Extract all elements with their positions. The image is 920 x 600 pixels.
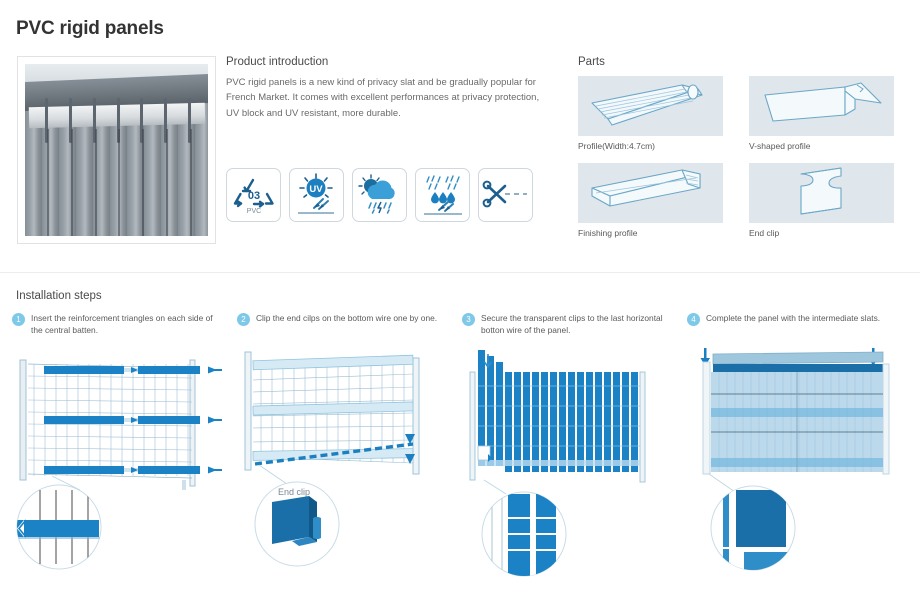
step-header: 1 Insert the reinforcement triangles on …: [12, 312, 237, 336]
part-label: V-shaped profile: [749, 141, 894, 151]
installation-step-2: 2 Clip the end cilps on the bottom wire …: [237, 312, 462, 587]
end-clip-detail-label: End clip: [278, 487, 310, 497]
water-repellent-icon: [415, 168, 470, 222]
photo-wire: [118, 129, 120, 236]
step-header: 3 Secure the transparent clips to the la…: [462, 312, 687, 336]
product-photo: [25, 64, 208, 236]
step-header: 4 Complete the panel with the intermedia…: [687, 312, 912, 326]
cuttable-scissors-icon: [478, 168, 533, 222]
step-text: Secure the transparent clips to the last…: [481, 312, 671, 336]
step-badge: 3: [462, 313, 475, 326]
parts-heading: Parts: [578, 56, 908, 68]
part-item-v-shaped: V-shaped profile: [749, 76, 894, 151]
step-header: 2 Clip the end cilps on the bottom wire …: [237, 312, 462, 326]
feature-icon-row: 03 PVC UV: [226, 168, 533, 222]
part-item-finishing: Finishing profile: [578, 163, 723, 238]
part-image-end-clip: [749, 163, 894, 223]
product-photo-frame: [17, 56, 216, 244]
intro-body: PVC rigid panels is a new kind of privac…: [226, 75, 546, 121]
step-badge: 1: [12, 313, 25, 326]
uv-block-icon: UV: [289, 168, 344, 222]
parts-section: Parts: [578, 56, 908, 238]
step-text: Clip the end cilps on the bottom wire on…: [256, 312, 437, 326]
part-image-finishing: [578, 163, 723, 223]
pvc-label-text: PVC: [246, 208, 260, 215]
step-illustration-3: [462, 342, 677, 587]
part-label: Finishing profile: [578, 228, 723, 238]
photo-wire: [166, 129, 168, 236]
photo-wire: [47, 129, 49, 236]
photo-wire: [95, 129, 97, 236]
step-badge: 2: [237, 313, 250, 326]
part-item-profile: Profile(Width:4.7cm): [578, 76, 723, 151]
product-spec-sheet: PVC rigid panels Product introduction P: [0, 0, 920, 600]
part-image-v-shaped: [749, 76, 894, 136]
step-illustration-2: End clip: [237, 332, 452, 577]
photo-wire: [142, 129, 144, 236]
installation-steps: 1 Insert the reinforcement triangles on …: [12, 312, 912, 587]
installation-step-1: 1 Insert the reinforcement triangles on …: [12, 312, 237, 587]
photo-wire: [71, 129, 73, 236]
part-image-profile: [578, 76, 723, 136]
weather-resistant-icon: [352, 168, 407, 222]
photo-wire: [190, 129, 192, 236]
step-text: Complete the panel with the intermediate…: [706, 312, 880, 326]
page-title: PVC rigid panels: [16, 18, 164, 40]
part-label: End clip: [749, 228, 894, 238]
section-divider: [0, 272, 920, 273]
installation-heading: Installation steps: [16, 290, 102, 302]
pvc-recycling-icon: 03 PVC: [226, 168, 281, 222]
part-label: Profile(Width:4.7cm): [578, 141, 723, 151]
step-illustration-1: [12, 342, 227, 587]
installation-step-3: 3 Secure the transparent clips to the la…: [462, 312, 687, 587]
step-text: Insert the reinforcement triangles on ea…: [31, 312, 221, 336]
part-item-end-clip: End clip: [749, 163, 894, 238]
step-badge: 4: [687, 313, 700, 326]
intro-heading: Product introduction: [226, 56, 546, 68]
step-illustration-4: [687, 332, 902, 577]
product-introduction: Product introduction PVC rigid panels is…: [226, 56, 546, 121]
uv-label-text: UV: [309, 184, 323, 195]
installation-step-4: 4 Complete the panel with the intermedia…: [687, 312, 912, 587]
pvc-code-text: 03: [247, 190, 259, 202]
parts-grid: Profile(Width:4.7cm) V-shaped profile: [578, 76, 908, 238]
